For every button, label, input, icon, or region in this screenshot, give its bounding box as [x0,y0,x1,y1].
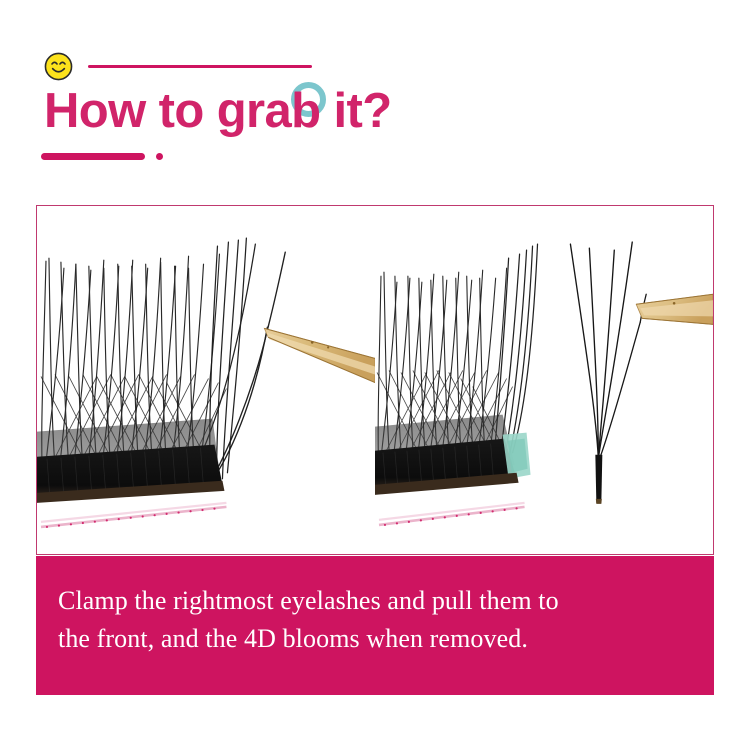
header-accent-dot [156,153,163,160]
header-top-rule [88,65,312,68]
header-section: How to grab it? [0,0,750,195]
promo-page: How to grab it? [0,0,750,750]
caption-banner: Clamp the rightmost eyelashes and pull t… [36,556,714,695]
caption-line-1: Clamp the rightmost eyelashes and pull t… [58,582,680,620]
photo-frame [36,205,714,555]
caption-line-2: the front, and the 4D blooms when remove… [58,620,680,658]
smiley-face-icon [44,52,73,81]
photo-panel-left [37,206,375,554]
page-title: How to grab it? [44,87,392,136]
photo-panel-right [375,206,713,554]
header-underline [41,153,145,160]
